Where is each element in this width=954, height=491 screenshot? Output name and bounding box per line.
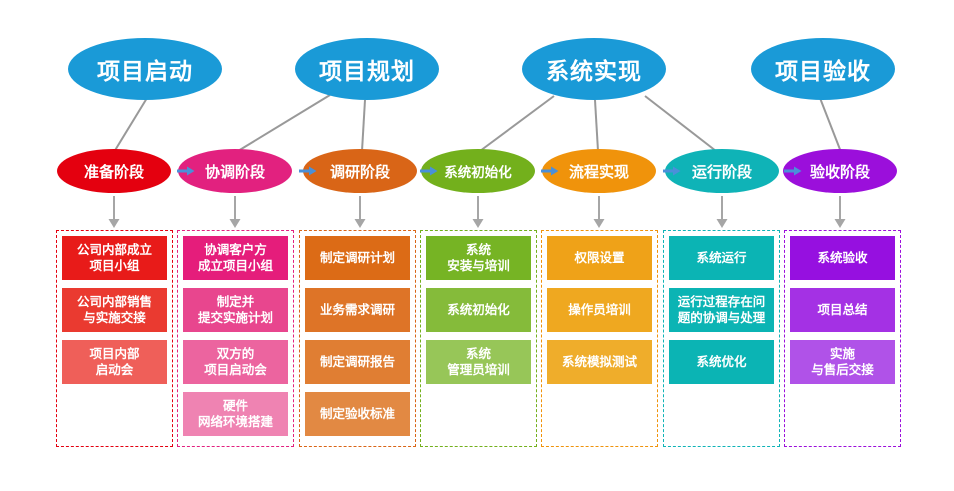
task-box-line: 题的协调与处理	[678, 310, 766, 326]
task-box-line: 项目启动会	[204, 362, 267, 378]
task-column-c4: 系统安装与培训系统初始化系统管理员培训	[420, 230, 537, 447]
group-ellipse-label: 项目启动	[97, 52, 193, 86]
task-box-line: 安装与培训	[447, 258, 510, 274]
task-box-line: 双方的	[217, 346, 255, 362]
down-arrow-d5	[592, 196, 606, 230]
connector-line-g1-p1	[114, 98, 147, 152]
task-box-line: 网络环境搭建	[198, 414, 273, 430]
task-box-line: 启动会	[96, 362, 134, 378]
down-arrow-d3	[353, 196, 367, 230]
phase-ellipse-label: 运行阶段	[692, 161, 752, 182]
phase-ellipse-label: 系统初始化	[444, 161, 512, 181]
task-box-line: 与实施交接	[83, 310, 146, 326]
phase-ellipse-p5[interactable]: 流程实现	[542, 149, 656, 193]
task-box-line: 制定调研计划	[320, 250, 395, 266]
task-box[interactable]: 业务需求调研	[305, 288, 410, 332]
task-box[interactable]: 协调客户方成立项目小组	[183, 236, 288, 280]
phase-flow-arrow-a1	[177, 165, 195, 177]
connector-line-g2-p3	[362, 100, 365, 151]
phase-ellipse-label: 准备阶段	[84, 161, 144, 182]
task-box[interactable]: 系统管理员培训	[426, 340, 531, 384]
phase-flow-arrow-a2	[299, 165, 317, 177]
task-column-c3: 制定调研计划业务需求调研制定调研报告制定验收标准	[299, 230, 416, 447]
task-box-line: 操作员培训	[568, 302, 631, 318]
task-column-c2: 协调客户方成立项目小组制定并提交实施计划双方的项目启动会硬件网络环境搭建	[177, 230, 294, 447]
task-box[interactable]: 操作员培训	[547, 288, 652, 332]
task-box-line: 项目内部	[89, 346, 139, 362]
phase-ellipse-p6[interactable]: 运行阶段	[665, 149, 779, 193]
task-column-c6: 系统运行运行过程存在问题的协调与处理系统优化	[663, 230, 780, 447]
task-box-line: 制定并	[217, 294, 255, 310]
down-arrow-d1	[107, 196, 121, 230]
phase-ellipse-p4[interactable]: 系统初始化	[421, 149, 535, 193]
task-box-line: 系统	[466, 242, 491, 258]
phase-flow-arrow-a4	[541, 165, 559, 177]
task-box[interactable]: 公司内部成立项目小组	[62, 236, 167, 280]
task-box[interactable]: 系统模拟测试	[547, 340, 652, 384]
task-column-c1: 公司内部成立项目小组公司内部销售与实施交接项目内部启动会	[56, 230, 173, 447]
phase-ellipse-p2[interactable]: 协调阶段	[178, 149, 292, 193]
task-box[interactable]: 实施与售后交接	[790, 340, 895, 384]
task-box[interactable]: 制定调研报告	[305, 340, 410, 384]
task-box-line: 硬件	[223, 398, 248, 414]
task-box-line: 系统模拟测试	[562, 354, 637, 370]
phase-flow-arrow-a3	[420, 165, 438, 177]
task-box-line: 协调客户方	[204, 242, 267, 258]
task-box[interactable]: 权限设置	[547, 236, 652, 280]
down-arrow-d2	[228, 196, 242, 230]
group-ellipse-label: 项目规划	[319, 52, 415, 86]
task-box[interactable]: 系统优化	[669, 340, 774, 384]
task-box-line: 公司内部成立	[77, 242, 152, 258]
task-box-line: 与售后交接	[811, 362, 874, 378]
task-column-c5: 权限设置操作员培训系统模拟测试	[541, 230, 658, 447]
group-ellipse-g4[interactable]: 项目验收	[751, 38, 895, 100]
task-box-line: 项目总结	[817, 302, 867, 318]
group-ellipse-label: 项目验收	[775, 52, 871, 86]
task-box-line: 运行过程存在问	[678, 294, 766, 310]
task-box[interactable]: 公司内部销售与实施交接	[62, 288, 167, 332]
down-arrow-d6	[715, 196, 729, 230]
task-box[interactable]: 硬件网络环境搭建	[183, 392, 288, 436]
task-box-line: 系统优化	[696, 354, 746, 370]
task-box[interactable]: 双方的项目启动会	[183, 340, 288, 384]
task-box-line: 制定调研报告	[320, 354, 395, 370]
task-box[interactable]: 项目内部启动会	[62, 340, 167, 384]
phase-ellipse-p3[interactable]: 调研阶段	[303, 149, 417, 193]
group-ellipse-g1[interactable]: 项目启动	[68, 38, 222, 100]
task-box-line: 成立项目小组	[198, 258, 273, 274]
down-arrow-d7	[833, 196, 847, 230]
task-box-line: 公司内部销售	[77, 294, 152, 310]
phase-ellipse-label: 验收阶段	[810, 161, 870, 182]
task-box-line: 权限设置	[574, 250, 624, 266]
down-arrow-d4	[471, 196, 485, 230]
task-box-line: 业务需求调研	[320, 302, 395, 318]
task-box-line: 系统验收	[817, 250, 867, 266]
task-box[interactable]: 制定调研计划	[305, 236, 410, 280]
task-box[interactable]: 项目总结	[790, 288, 895, 332]
flowchart-canvas: 项目启动项目规划系统实现项目验收 准备阶段协调阶段调研阶段系统初始化流程实现运行…	[0, 0, 954, 491]
task-box-line: 系统运行	[696, 250, 746, 266]
connector-line-g3-p5	[595, 100, 598, 151]
task-box-line: 项目小组	[89, 258, 139, 274]
phase-flow-arrow-a5	[663, 165, 681, 177]
task-box[interactable]: 系统安装与培训	[426, 236, 531, 280]
task-box-line: 提交实施计划	[198, 310, 273, 326]
connector-line-g2-p2	[238, 95, 330, 151]
task-box[interactable]: 制定并提交实施计划	[183, 288, 288, 332]
task-box[interactable]: 运行过程存在问题的协调与处理	[669, 288, 774, 332]
task-box[interactable]: 制定验收标准	[305, 392, 410, 436]
task-box-line: 制定验收标准	[320, 406, 395, 422]
phase-ellipse-label: 协调阶段	[205, 161, 265, 182]
task-box-line: 管理员培训	[447, 362, 510, 378]
phase-ellipse-label: 流程实现	[569, 161, 629, 182]
task-column-c7: 系统验收项目总结实施与售后交接	[784, 230, 901, 447]
task-box[interactable]: 系统验收	[790, 236, 895, 280]
task-box[interactable]: 系统初始化	[426, 288, 531, 332]
connector-line-g3-p6	[645, 96, 716, 151]
phase-flow-arrow-a6	[784, 165, 802, 177]
group-ellipse-label: 系统实现	[546, 52, 642, 86]
task-box-line: 实施	[830, 346, 855, 362]
task-box[interactable]: 系统运行	[669, 236, 774, 280]
phase-ellipse-label: 调研阶段	[330, 161, 390, 182]
task-box-line: 系统	[466, 346, 491, 362]
task-box-line: 系统初始化	[447, 302, 510, 318]
connector-line-g4-p7	[820, 98, 841, 152]
connector-line-g3-p4	[480, 96, 554, 151]
group-ellipse-g3[interactable]: 系统实现	[522, 38, 666, 100]
group-ellipse-g2[interactable]: 项目规划	[295, 38, 439, 100]
phase-ellipse-p1[interactable]: 准备阶段	[57, 149, 171, 193]
